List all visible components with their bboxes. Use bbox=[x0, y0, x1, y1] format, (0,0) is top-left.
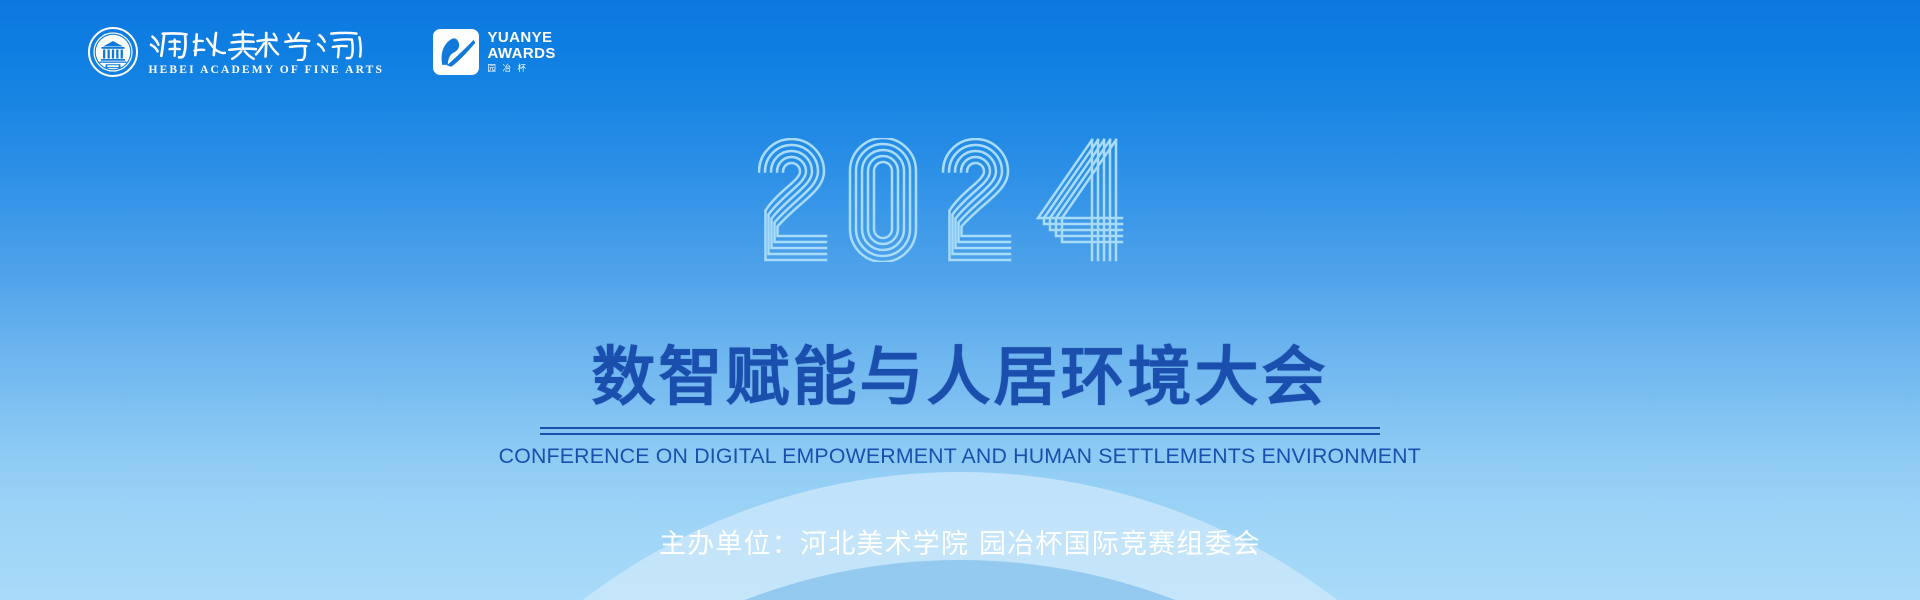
yuanye-wordmark: YUANYE AWARDS 园 冶 杯 bbox=[488, 30, 556, 73]
hebei-academy-wordmark: HEBEI ACADEMY OF FINE ARTS bbox=[148, 27, 385, 77]
organizer-line: 主办单位：河北美术学院 园冶杯国际竞赛组委会 bbox=[0, 528, 1920, 562]
yuanye-leaf-mark-icon bbox=[433, 29, 479, 75]
divider-rule-top bbox=[540, 427, 1380, 429]
yuanye-name-line2: AWARDS bbox=[488, 46, 556, 62]
logo-row: HEBEI ACADEMY OF FINE ARTS YUANYE AWARDS… bbox=[88, 26, 556, 77]
year-graphic bbox=[0, 138, 1920, 262]
hebei-academy-english-name: HEBEI ACADEMY OF FINE ARTS bbox=[148, 64, 385, 77]
hebei-academy-seal-icon bbox=[88, 27, 138, 77]
yuanye-cn-char-3: 杯 bbox=[518, 64, 527, 73]
hebei-academy-logo[interactable]: HEBEI ACADEMY OF FINE ARTS bbox=[88, 26, 385, 77]
yuanye-chinese-name: 园 冶 杯 bbox=[488, 64, 556, 73]
divider-rule-bottom bbox=[540, 433, 1380, 435]
conference-title-english: CONFERENCE ON DIGITAL EMPOWERMENT AND HU… bbox=[499, 443, 1421, 469]
conference-banner: HEBEI ACADEMY OF FINE ARTS YUANYE AWARDS… bbox=[0, 0, 1920, 600]
yuanye-name-line1: YUANYE bbox=[488, 30, 556, 46]
yuanye-cn-char-1: 园 bbox=[488, 64, 497, 73]
hebei-academy-chinese-name-icon bbox=[148, 27, 385, 61]
title-block: 数智赋能与人居环境大会 CONFERENCE ON DIGITAL EMPOWE… bbox=[0, 340, 1920, 469]
conference-title-chinese: 数智赋能与人居环境大会 bbox=[592, 340, 1329, 416]
background-arc-decoration bbox=[0, 0, 1920, 600]
title-divider-rules bbox=[540, 427, 1380, 435]
yuanye-awards-logo[interactable]: YUANYE AWARDS 园 冶 杯 bbox=[433, 29, 556, 75]
yuanye-cn-char-2: 冶 bbox=[503, 64, 512, 73]
